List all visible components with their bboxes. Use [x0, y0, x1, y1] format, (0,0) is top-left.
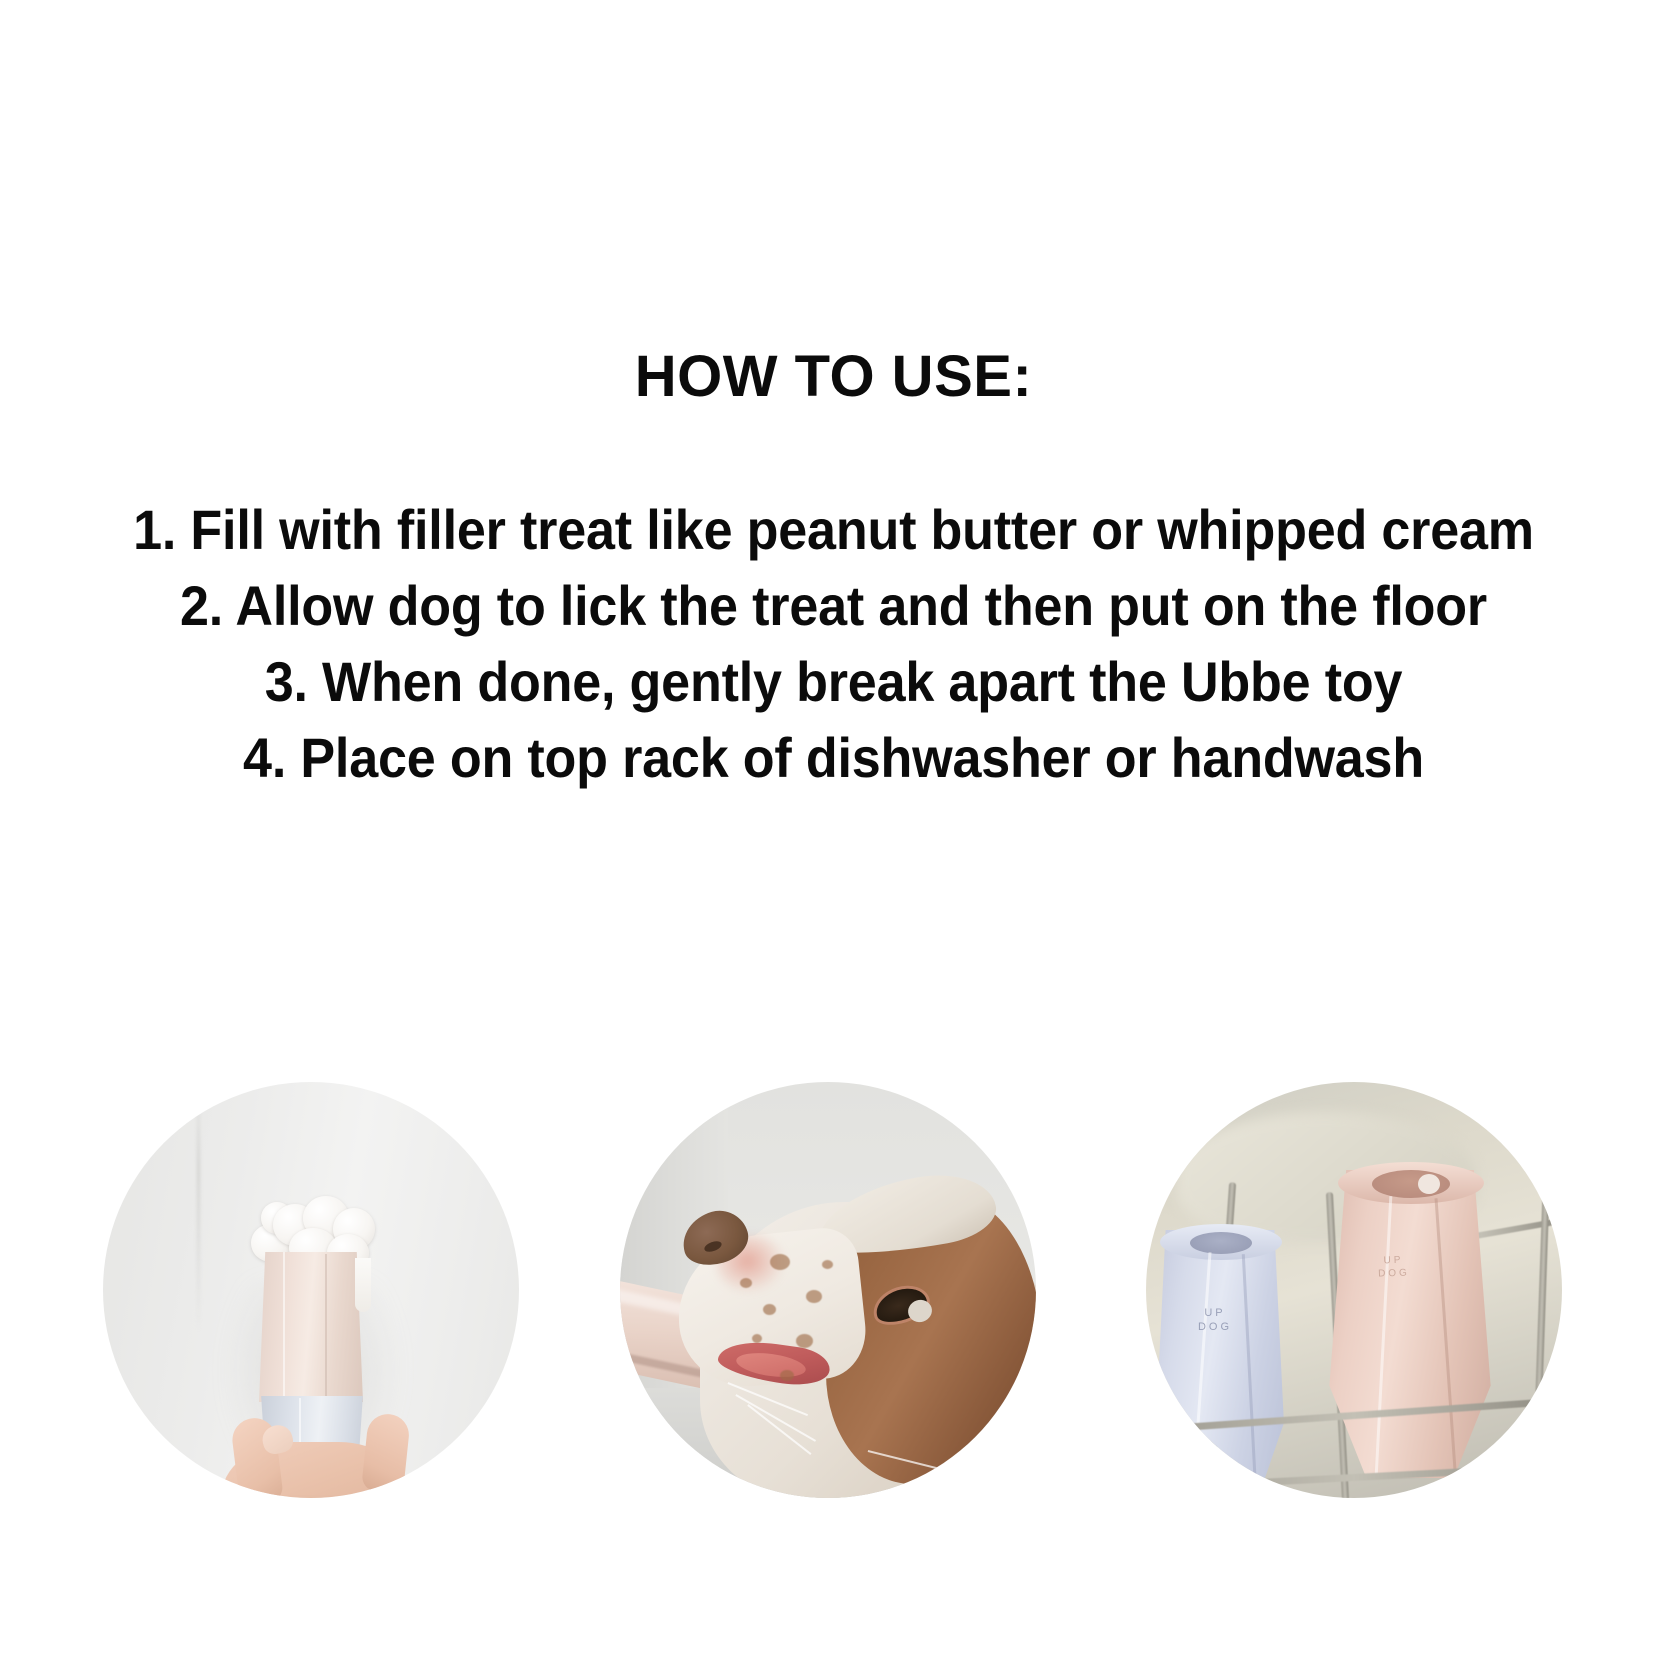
dog-freckle [740, 1278, 752, 1288]
instruction-list: 1. Fill with filler treat like peanut bu… [0, 492, 1667, 796]
dog-freckle [752, 1334, 762, 1343]
index-finger [361, 1412, 411, 1494]
toy-facet-highlight [283, 1252, 285, 1402]
instruction-step-4: 4. Place on top rack of dishwasher or ha… [58, 720, 1608, 796]
brand-emboss-pink: UP DOG [1361, 1253, 1426, 1295]
thumb [230, 1416, 284, 1498]
toy-pink-inner-plug [1418, 1174, 1440, 1194]
page-title: HOW TO USE: [0, 348, 1667, 406]
hand-holding-toy [211, 1414, 421, 1498]
page-root: HOW TO USE: 1. Fill with filler treat li… [0, 0, 1667, 1667]
toy-facet-shadow [325, 1254, 327, 1402]
instruction-step-2: 2. Allow dog to lick the treat and then … [58, 568, 1608, 644]
photo-row: UP DOG UP DOG [0, 1082, 1667, 1502]
toy-body-pink [259, 1252, 363, 1402]
dog-freckle [780, 1370, 794, 1381]
dog-freckle [796, 1334, 813, 1348]
cream-drip [355, 1258, 371, 1312]
photo-fill-with-treat [103, 1082, 519, 1498]
instruction-step-3: 3. When done, gently break apart the Ubb… [58, 644, 1608, 720]
photo-2-scene [620, 1082, 1036, 1498]
dog-freckle [822, 1260, 833, 1269]
brand-line-1: UP [1182, 1306, 1248, 1320]
photo-1-scene [103, 1082, 519, 1498]
instruction-step-1: 1. Fill with filler treat like peanut bu… [58, 492, 1608, 568]
brand-emboss-lavender: UP DOG [1182, 1306, 1248, 1348]
dog-freckle [770, 1254, 790, 1270]
toy-pink [1326, 1170, 1494, 1478]
toy-lavender [1152, 1230, 1288, 1498]
dog-freckle [763, 1304, 776, 1315]
dog-freckle [806, 1290, 822, 1303]
wall-corner-line [197, 1082, 200, 1332]
toy-lavender-opening [1190, 1232, 1252, 1254]
photo-dishwasher-rack: UP DOG UP DOG [1146, 1082, 1562, 1498]
photo-dog-licking [620, 1082, 1036, 1498]
brand-line-2: DOG [1182, 1320, 1248, 1334]
brand-line-2: DOG [1362, 1266, 1426, 1281]
photo-3-scene: UP DOG UP DOG [1146, 1082, 1562, 1498]
